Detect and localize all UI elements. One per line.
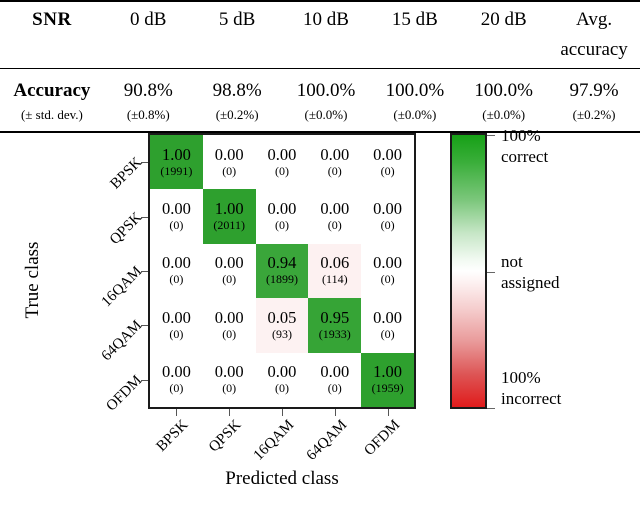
colorbar-label-not-assigned: not assigned (501, 251, 560, 293)
matrix-cell-value: 0.05 (268, 309, 297, 327)
matrix-cell-value: 0.00 (373, 309, 402, 327)
matrix-cell-3-3: 0.95(1933) (308, 298, 361, 352)
matrix-cell-count: (114) (322, 272, 348, 287)
x-tick-mark-1 (229, 409, 230, 416)
matrix-cell-4-3: 0.00(0) (308, 353, 361, 407)
matrix-cell-count: (0) (328, 381, 342, 396)
matrix-cell-count: (93) (272, 327, 292, 342)
matrix-cell-0-3: 0.00(0) (308, 135, 361, 189)
matrix-cell-4-4: 1.00(1959) (361, 353, 414, 407)
colorbar-label-not-assigned-line1: not (501, 251, 560, 272)
matrix-cell-value: 0.00 (320, 146, 349, 164)
matrix-cell-count: (0) (275, 164, 289, 179)
matrix-cell-value: 0.94 (268, 254, 297, 272)
matrix-cell-value: 0.00 (268, 363, 297, 381)
matrix-cell-value: 0.06 (320, 254, 349, 272)
matrix-cell-value: 0.00 (320, 200, 349, 218)
x-tick-mark-2 (282, 409, 283, 416)
y-tick-mark-3 (141, 325, 148, 326)
table-header-col-2: 10 dB (282, 5, 371, 35)
x-tick-mark-4 (388, 409, 389, 416)
matrix-cell-4-0: 0.00(0) (150, 353, 203, 407)
matrix-cell-count: (1991) (160, 164, 192, 179)
y-tick-mark-2 (141, 271, 148, 272)
matrix-cell-count: (0) (381, 272, 395, 287)
matrix-cell-3-1: 0.00(0) (203, 298, 256, 352)
confusion-matrix: 1.00(1991)0.00(0)0.00(0)0.00(0)0.00(0)0.… (148, 133, 416, 409)
table-header-col-5: Avg. accuracy (548, 5, 640, 65)
matrix-cell-count: (0) (222, 381, 236, 396)
colorbar-label-incorrect-line2: incorrect (501, 388, 561, 409)
matrix-cell-count: (2011) (213, 218, 245, 233)
matrix-cell-2-0: 0.00(0) (150, 244, 203, 298)
matrix-cell-count: (1959) (372, 381, 404, 396)
colorbar-label-incorrect-line1: 100% (501, 367, 561, 388)
matrix-cell-value: 0.00 (162, 309, 191, 327)
matrix-cell-value: 0.00 (215, 254, 244, 272)
matrix-cell-count: (0) (328, 164, 342, 179)
matrix-cell-count: (0) (169, 272, 183, 287)
matrix-cell-value: 0.00 (162, 200, 191, 218)
colorbar-label-correct-line1: 100% (501, 125, 548, 146)
matrix-cell-value: 0.00 (373, 200, 402, 218)
matrix-cell-1-2: 0.00(0) (256, 189, 309, 243)
matrix-cell-count: (0) (381, 164, 395, 179)
y-tick-label-64qam: 64QAM (35, 318, 146, 429)
matrix-cell-3-0: 0.00(0) (150, 298, 203, 352)
matrix-cell-count: (0) (169, 218, 183, 233)
colorbar-tick-bottom (487, 408, 495, 409)
table-header-col-1: 5 dB (193, 5, 282, 35)
matrix-cell-value: 0.95 (320, 309, 349, 327)
y-axis-title: True class (22, 220, 44, 340)
colorbar-label-not-assigned-line2: assigned (501, 272, 560, 293)
matrix-cell-value: 0.00 (268, 146, 297, 164)
matrix-cell-value: 0.00 (373, 254, 402, 272)
matrix-cell-value: 0.00 (162, 363, 191, 381)
matrix-cell-count: (1899) (266, 272, 298, 287)
matrix-cell-value: 0.00 (215, 309, 244, 327)
matrix-cell-4-1: 0.00(0) (203, 353, 256, 407)
y-tick-mark-4 (141, 380, 148, 381)
y-tick-mark-0 (141, 162, 148, 163)
matrix-cell-value: 1.00 (215, 200, 244, 218)
matrix-cell-count: (0) (169, 381, 183, 396)
matrix-cell-3-4: 0.00(0) (361, 298, 414, 352)
matrix-cell-count: (0) (222, 272, 236, 287)
matrix-cell-value: 0.00 (162, 254, 191, 272)
matrix-cell-count: (0) (328, 218, 342, 233)
matrix-cell-0-1: 0.00(0) (203, 135, 256, 189)
matrix-cell-value: 0.00 (373, 146, 402, 164)
matrix-cell-2-4: 0.00(0) (361, 244, 414, 298)
y-tick-label-16qam: 16QAM (35, 263, 146, 374)
matrix-cell-1-3: 0.00(0) (308, 189, 361, 243)
table-header-snr: SNR (0, 5, 104, 35)
matrix-cell-1-4: 0.00(0) (361, 189, 414, 243)
matrix-cell-count: (0) (381, 218, 395, 233)
matrix-cell-0-2: 0.00(0) (256, 135, 309, 189)
colorbar-label-correct: 100% correct (501, 125, 548, 167)
x-tick-mark-3 (335, 409, 336, 416)
matrix-cell-value: 1.00 (373, 363, 402, 381)
matrix-cell-count: (0) (275, 218, 289, 233)
matrix-cell-value: 0.00 (320, 363, 349, 381)
colorbar-label-correct-line2: correct (501, 146, 548, 167)
matrix-cell-1-1: 1.00(2011) (203, 189, 256, 243)
table-header-col-3: 15 dB (370, 5, 459, 35)
colorbar-label-incorrect: 100% incorrect (501, 367, 561, 409)
table-header-row: SNR 0 dB 5 dB 10 dB 15 dB 20 dB Avg. acc… (0, 2, 640, 68)
y-tick-label-qpsk: QPSK (35, 209, 146, 320)
y-tick-mark-1 (141, 217, 148, 218)
colorbar-tick-top (487, 135, 495, 136)
confusion-matrix-figure: True class Predicted class 1.00(1991)0.0… (0, 96, 640, 496)
matrix-cell-2-3: 0.06(114) (308, 244, 361, 298)
matrix-cell-count: (1933) (319, 327, 351, 342)
matrix-cell-0-0: 1.00(1991) (150, 135, 203, 189)
matrix-cell-0-4: 0.00(0) (361, 135, 414, 189)
matrix-cell-value: 0.00 (215, 146, 244, 164)
matrix-cell-value: 1.00 (162, 146, 191, 164)
matrix-cell-2-2: 0.94(1899) (256, 244, 309, 298)
matrix-cell-2-1: 0.00(0) (203, 244, 256, 298)
matrix-cell-4-2: 0.00(0) (256, 353, 309, 407)
matrix-cell-count: (0) (275, 381, 289, 396)
colorbar-tick-middle (487, 272, 495, 273)
matrix-cell-count: (0) (222, 164, 236, 179)
matrix-cell-count: (0) (381, 327, 395, 342)
matrix-cell-value: 0.00 (268, 200, 297, 218)
table-header-col-0: 0 dB (104, 5, 193, 35)
matrix-cell-1-0: 0.00(0) (150, 189, 203, 243)
colorbar (450, 133, 487, 409)
matrix-cell-count: (0) (222, 327, 236, 342)
x-tick-mark-0 (176, 409, 177, 416)
y-tick-label-bpsk: BPSK (35, 155, 146, 266)
matrix-cell-3-2: 0.05(93) (256, 298, 309, 352)
matrix-cell-count: (0) (169, 327, 183, 342)
table-header-col-4: 20 dB (459, 5, 548, 35)
matrix-cell-value: 0.00 (215, 363, 244, 381)
confusion-matrix-grid: 1.00(1991)0.00(0)0.00(0)0.00(0)0.00(0)0.… (150, 135, 414, 407)
